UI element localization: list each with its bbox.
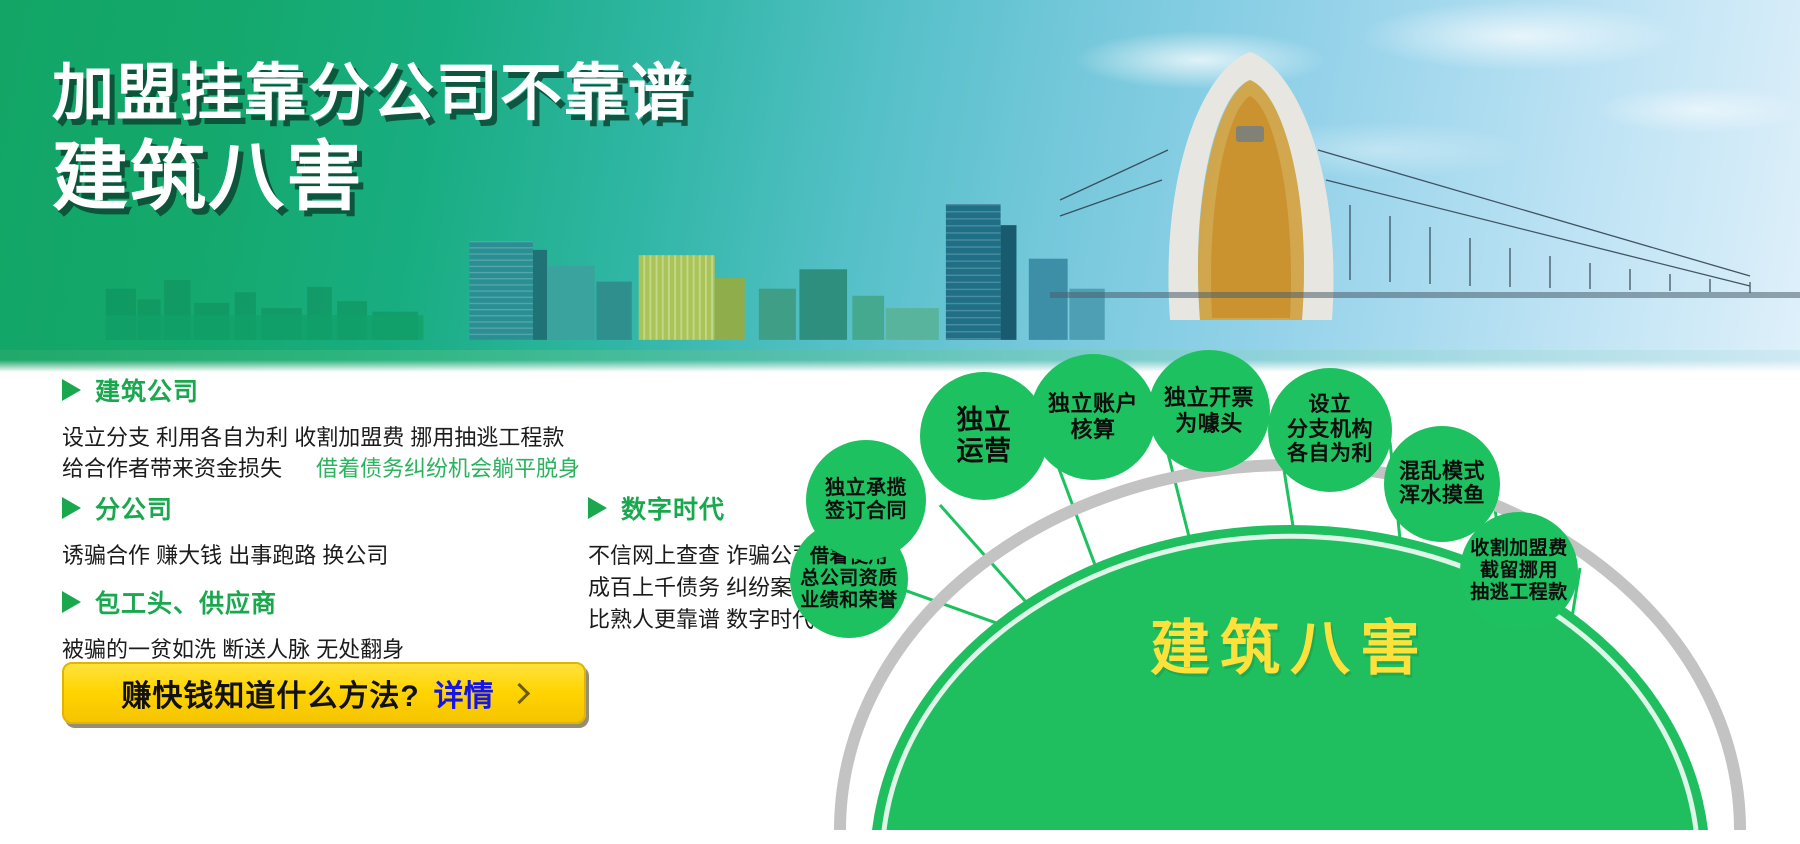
headline-line-1: 加盟挂靠分公司不靠谱 <box>52 62 692 125</box>
triangle-bullet-icon <box>588 497 607 519</box>
bubble-line-2: 浑水摸鱼 <box>1399 484 1485 508</box>
bubble-line-2: 分支机构 <box>1287 418 1373 442</box>
section-heading: 包工头、供应商 <box>62 584 404 620</box>
bridge-illustration <box>1050 30 1800 330</box>
bubble-harvest-fee[interactable]: 收割加盟费 截留挪用 抽逃工程款 <box>1460 512 1578 630</box>
section-body: 被骗的一贫如洗 断送人脉 无处翻身 <box>62 634 404 665</box>
bubble-independent-account[interactable]: 独立账户 核算 <box>1030 354 1156 480</box>
section-body-line-2: 给合作者带来资金损失借着债务纠纷机会躺平脱身 <box>62 453 580 484</box>
section-body: 设立分支 利用各自为利 收割加盟费 挪用抽逃工程款 给合作者带来资金损失借着债务… <box>62 422 580 484</box>
section-construction-company: 建筑公司 设立分支 利用各自为利 收割加盟费 挪用抽逃工程款 给合作者带来资金损… <box>62 372 580 484</box>
bubble-line-3: 业绩和荣誉 <box>800 590 898 612</box>
bubble-line-1: 独立开票 <box>1164 385 1254 411</box>
triangle-bullet-icon <box>62 591 81 613</box>
arch-center-label: 建筑八害 <box>780 600 1800 687</box>
section-title: 数字时代 <box>621 490 725 526</box>
section-heading: 分公司 <box>62 490 388 526</box>
line2-black-text: 给合作者带来资金损失 <box>62 456 282 481</box>
bubble-line-2: 总公司资质 <box>800 568 898 590</box>
section-body-line-1: 诱骗合作 赚大钱 出事跑路 换公司 <box>62 540 388 571</box>
bubble-line-1: 设立 <box>1287 393 1373 417</box>
bubble-line-2: 核算 <box>1048 417 1138 443</box>
bubble-line-2: 签订合同 <box>825 500 907 523</box>
poster-root: 加盟挂靠分公司不靠谱 建筑八害 建筑公司 设立分支 利用各自为利 收割加盟费 挪… <box>0 0 1800 844</box>
cta-button[interactable]: 赚快钱知道什么方法? 详情 <box>62 662 586 724</box>
bubble-line-3: 抽逃工程款 <box>1470 582 1568 604</box>
bubble-independent-contracting[interactable]: 独立承揽 签订合同 <box>806 440 926 560</box>
bubble-line-1: 混乱模式 <box>1399 460 1485 484</box>
dome-diagram: 建筑八害 借着使用 总公司资质 业绩和荣誉 独立承揽 签订合同 独立 运营 独立… <box>780 330 1800 844</box>
hero-headline: 加盟挂靠分公司不靠谱 建筑八害 <box>52 62 692 217</box>
line2-green-text: 借着债务纠纷机会躺平脱身 <box>316 456 580 481</box>
hero-banner: 加盟挂靠分公司不靠谱 建筑八害 <box>0 0 1800 372</box>
triangle-bullet-icon <box>62 379 81 401</box>
chevron-right-icon <box>509 682 530 703</box>
bubble-line-1: 独立账户 <box>1048 391 1138 417</box>
section-heading: 建筑公司 <box>62 372 580 408</box>
bubble-line-1: 独立承揽 <box>825 477 907 500</box>
bubble-line-2: 为噱头 <box>1164 411 1254 437</box>
section-title: 包工头、供应商 <box>95 584 277 620</box>
section-contractor-supplier: 包工头、供应商 被骗的一贫如洗 断送人脉 无处翻身 <box>62 584 404 665</box>
section-body-line-1: 被骗的一贫如洗 断送人脉 无处翻身 <box>62 634 404 665</box>
content-area: 建筑公司 设立分支 利用各自为利 收割加盟费 挪用抽逃工程款 给合作者带来资金损… <box>0 372 900 844</box>
section-title: 分公司 <box>95 490 173 526</box>
bubble-line-3: 各自为利 <box>1287 442 1373 466</box>
triangle-bullet-icon <box>62 497 81 519</box>
bubble-line-1: 收割加盟费 <box>1470 538 1568 560</box>
bubble-line-2: 运营 <box>957 436 1012 467</box>
bubble-independent-invoice[interactable]: 独立开票 为噱头 <box>1148 350 1270 472</box>
bubble-set-up-branch[interactable]: 设立 分支机构 各自为利 <box>1268 368 1392 492</box>
section-branch-company: 分公司 诱骗合作 赚大钱 出事跑路 换公司 <box>62 490 388 571</box>
headline-line-2: 建筑八害 <box>52 139 692 217</box>
section-body-line-1: 设立分支 利用各自为利 收割加盟费 挪用抽逃工程款 <box>62 422 580 453</box>
bubble-line-1: 独立 <box>957 405 1012 436</box>
cta-question-text: 赚快钱知道什么方法? <box>121 671 419 715</box>
section-title: 建筑公司 <box>95 372 199 408</box>
section-body: 诱骗合作 赚大钱 出事跑路 换公司 <box>62 540 388 571</box>
bubble-independent-operation[interactable]: 独立 运营 <box>920 372 1048 500</box>
bubble-line-2: 截留挪用 <box>1470 560 1568 582</box>
cta-detail-link[interactable]: 详情 <box>434 671 494 715</box>
